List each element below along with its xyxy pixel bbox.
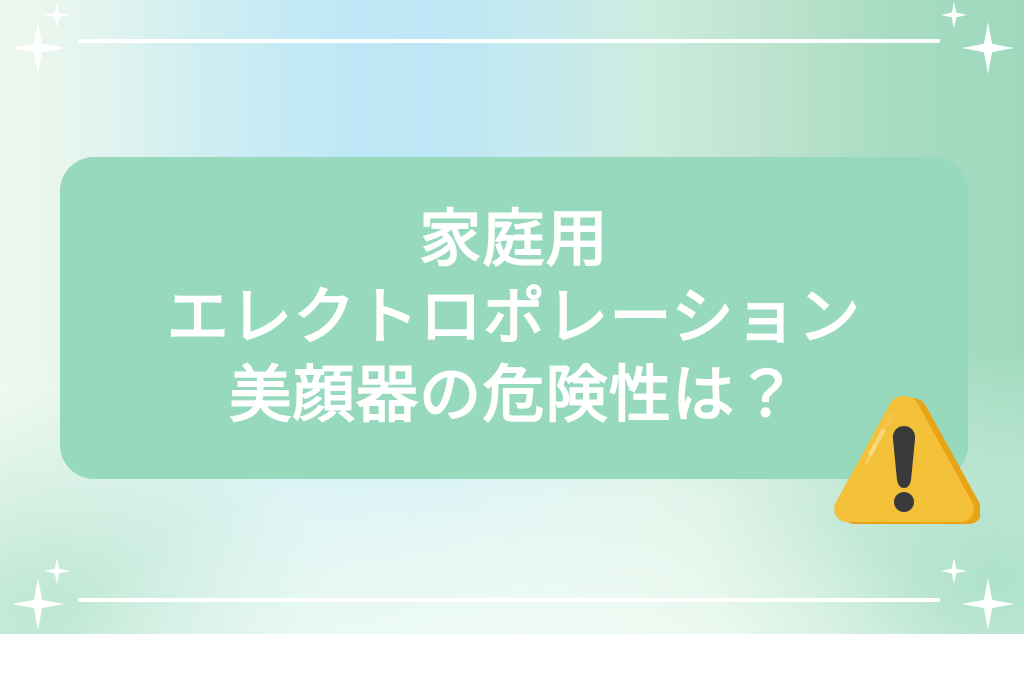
- thumbnail-canvas: 家庭用 エレクトロポレーション 美顔器の危険性は？: [0, 0, 1024, 682]
- bottom-rule: [78, 598, 940, 602]
- top-rule: [78, 39, 940, 43]
- title-line-2: エレクトロポレーション: [167, 279, 861, 357]
- warning-triangle-icon: [828, 388, 980, 534]
- title-line-3: 美顔器の危険性は？: [229, 357, 798, 435]
- title-line-1: 家庭用: [419, 201, 609, 279]
